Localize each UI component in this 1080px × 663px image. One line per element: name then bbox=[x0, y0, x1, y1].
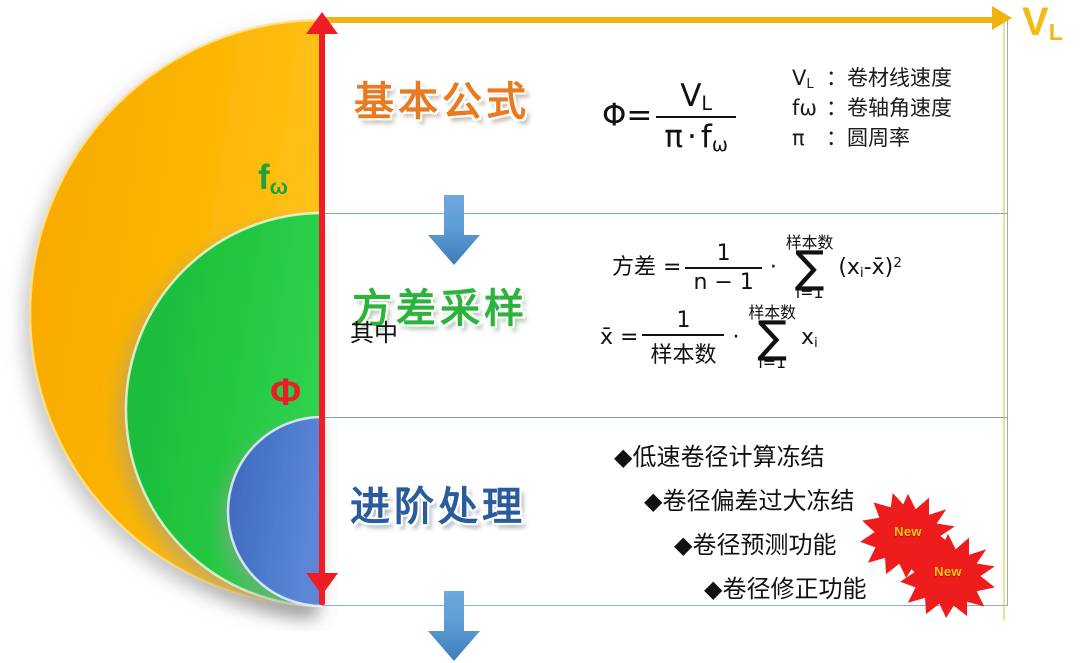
axis-label-fw-main: f bbox=[258, 158, 270, 197]
bullet-marker-icon: ◆ bbox=[704, 575, 722, 603]
axis-label-vl-main: V bbox=[1022, 0, 1049, 44]
list-item: ◆卷径修正功能 bbox=[704, 569, 866, 604]
bullet-marker-icon: ◆ bbox=[614, 443, 632, 471]
legend-desc: 圆周率 bbox=[847, 126, 910, 150]
mean-lhs: x̄ = bbox=[600, 325, 638, 350]
bullet-text: 卷径修正功能 bbox=[722, 575, 866, 603]
axis-label-vl-sub: L bbox=[1049, 19, 1063, 45]
bullet-text: 卷径预测功能 bbox=[692, 531, 836, 559]
formula-numerator: VL bbox=[672, 78, 720, 116]
mean-sum-lower: i=1 bbox=[758, 355, 786, 371]
variance-lhs: 方差 = bbox=[612, 255, 681, 280]
diagram-canvas: VL fω Φ 基本公式 Φ= VL π·fω VL：卷材线速度 fω：卷轴角速… bbox=[0, 0, 1080, 631]
formula-lhs: Φ= bbox=[602, 98, 652, 134]
legend-item: VL：卷材线速度 bbox=[792, 64, 952, 94]
formula-variance: 方差 = 1 n − 1 · 样本数 ∑ i=1 (xi-x̄)2 bbox=[612, 235, 902, 301]
mean-frac-den: 样本数 bbox=[642, 334, 724, 369]
section-basic-formula: 基本公式 Φ= VL π·fω VL：卷材线速度 fω：卷轴角速度 π：圆周率 bbox=[322, 20, 1008, 213]
variance-sum-lower: i=1 bbox=[796, 285, 824, 301]
legend-key: π bbox=[792, 124, 826, 154]
section-title-advanced-processing: 进阶处理 bbox=[350, 487, 526, 527]
variance-frac-den: n − 1 bbox=[685, 267, 761, 295]
formula-roll-diameter: Φ= VL π·fω bbox=[602, 78, 740, 156]
bullet-text: 低速卷径计算冻结 bbox=[632, 443, 824, 471]
list-item: ◆低速卷径计算冻结 bbox=[614, 437, 824, 472]
legend-key: fω bbox=[792, 94, 826, 124]
formula-mean: x̄ = 1 样本数 · 样本数 ∑ i=1 xi bbox=[600, 305, 818, 371]
list-item: ◆卷径偏差过大冻结 bbox=[644, 481, 854, 516]
axis-label-fw-sub: ω bbox=[270, 174, 288, 199]
axis-label-fw: fω bbox=[258, 160, 288, 197]
new-badge-2-label: New bbox=[900, 564, 996, 579]
variance-frac-num: 1 bbox=[709, 241, 739, 267]
bullet-marker-icon: ◆ bbox=[674, 531, 692, 559]
list-item: ◆卷径预测功能 bbox=[674, 525, 836, 560]
legend-separator: ： bbox=[826, 96, 847, 120]
section-title-basic-formula: 基本公式 bbox=[354, 82, 530, 122]
variance-dot: · bbox=[770, 255, 777, 280]
legend-separator: ： bbox=[826, 126, 847, 150]
bullet-text: 卷径偏差过大冻结 bbox=[662, 487, 854, 515]
variance-term: (xi-x̄)2 bbox=[838, 255, 902, 280]
mean-dot: · bbox=[732, 325, 739, 350]
legend-desc: 卷材线速度 bbox=[847, 66, 952, 90]
section-variance-sampling: 方差采样 方差 = 1 n − 1 · 样本数 ∑ i=1 (xi-x̄)2 其… bbox=[322, 213, 1008, 417]
variance-where-label: 其中 bbox=[350, 313, 398, 348]
axis-label-vl: VL bbox=[1022, 2, 1063, 44]
mean-sum-symbol: ∑ bbox=[757, 321, 787, 355]
legend-desc: 卷轴角速度 bbox=[847, 96, 952, 120]
legend-separator: ： bbox=[826, 66, 847, 90]
axis-label-phi: Φ bbox=[270, 374, 301, 412]
formula-legend: VL：卷材线速度 fω：卷轴角速度 π：圆周率 bbox=[792, 64, 952, 154]
legend-item: fω：卷轴角速度 bbox=[792, 94, 952, 124]
legend-item: π：圆周率 bbox=[792, 124, 952, 154]
legend-key: VL bbox=[792, 64, 826, 94]
mean-term: xi bbox=[801, 325, 818, 350]
variance-sum-symbol: ∑ bbox=[795, 251, 825, 285]
mean-frac-num: 1 bbox=[668, 308, 698, 334]
bullet-marker-icon: ◆ bbox=[644, 487, 662, 515]
formula-denominator: π·fω bbox=[656, 116, 736, 156]
